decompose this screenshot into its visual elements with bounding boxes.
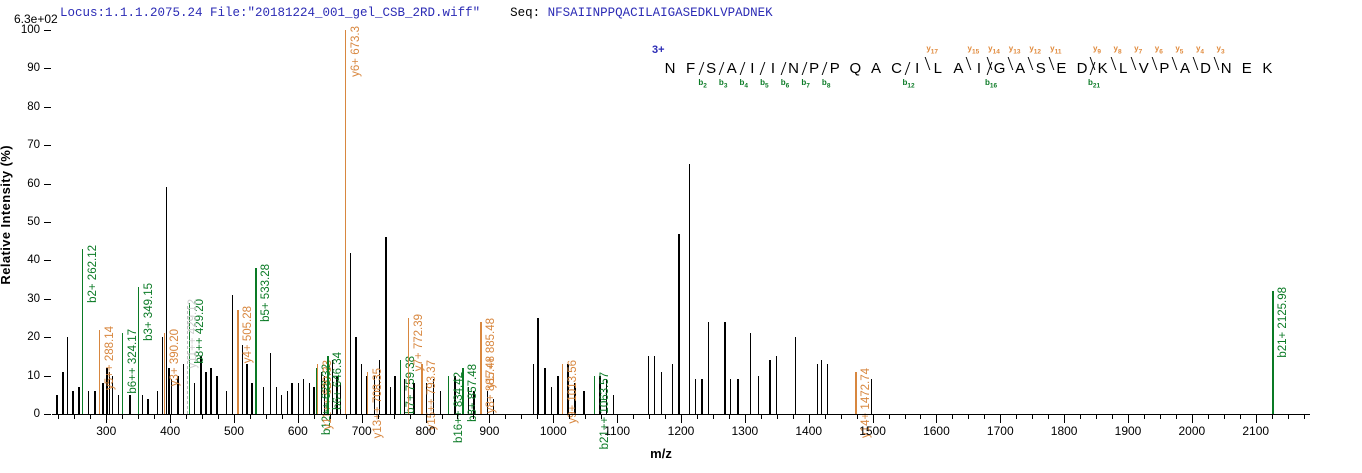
spectrum-peak bbox=[557, 376, 558, 414]
x-axis-minor-tick bbox=[410, 414, 411, 419]
spectrum-peak bbox=[390, 387, 391, 414]
peak-leader-line bbox=[187, 306, 188, 414]
spectrum-peak bbox=[88, 391, 89, 414]
spectrum-peak bbox=[440, 391, 441, 414]
x-axis-minor-tick bbox=[378, 414, 379, 419]
x-axis-major-tick bbox=[1000, 414, 1001, 423]
spectrum-peak bbox=[795, 337, 796, 414]
spectrum-peak bbox=[544, 368, 545, 414]
peak-label: b3+ 349.15 bbox=[143, 283, 155, 341]
x-axis-minor-tick bbox=[649, 414, 650, 419]
annotated-peak-y14p bbox=[855, 372, 856, 414]
spectrum-peak bbox=[281, 395, 282, 414]
annotated-peak-b21p bbox=[1272, 291, 1273, 414]
x-axis-title: m/z bbox=[0, 446, 1362, 461]
x-axis-minor-tick bbox=[218, 414, 219, 419]
x-axis-minor-tick bbox=[920, 414, 921, 419]
x-axis-major-tick bbox=[426, 414, 427, 423]
spectrum-peak bbox=[276, 387, 277, 414]
y-axis-tick-label: 90 bbox=[6, 62, 40, 74]
seq-keyword: Seq: bbox=[510, 6, 548, 20]
spectrum-peak bbox=[769, 360, 770, 414]
x-axis-tick-label: 700 bbox=[352, 424, 372, 438]
spectrum-peak bbox=[166, 187, 167, 414]
spectrum-peak bbox=[56, 395, 57, 414]
x-axis-minor-tick bbox=[1160, 414, 1161, 419]
peak-label: y3+ 390.20 bbox=[169, 329, 181, 386]
x-axis-minor-tick bbox=[314, 414, 315, 419]
x-axis-minor-tick bbox=[58, 414, 59, 419]
x-axis-major-tick bbox=[681, 414, 682, 423]
y-axis-tick bbox=[44, 260, 51, 261]
x-axis-tick-label: 600 bbox=[288, 424, 308, 438]
x-axis-tick-label: 2100 bbox=[1242, 424, 1269, 438]
y-axis-tick-label: 40 bbox=[6, 254, 40, 266]
spectrum-peak bbox=[194, 383, 195, 414]
spectrum-peak bbox=[251, 383, 252, 414]
x-axis-minor-tick bbox=[138, 414, 139, 419]
x-axis-major-tick bbox=[298, 414, 299, 423]
spectrum-peak bbox=[216, 376, 217, 414]
y-axis-tick-label: 30 bbox=[6, 293, 40, 305]
spectrum-peak bbox=[147, 399, 148, 414]
spectrum-peak bbox=[827, 364, 828, 414]
y-axis-tick bbox=[44, 30, 51, 31]
x-axis-minor-tick bbox=[857, 414, 858, 419]
x-axis-minor-tick bbox=[1048, 414, 1049, 419]
x-axis-major-tick bbox=[1064, 414, 1065, 423]
x-axis-minor-tick bbox=[841, 414, 842, 419]
x-axis-tick-label: 1400 bbox=[795, 424, 822, 438]
x-axis-minor-tick bbox=[537, 414, 538, 419]
peak-label: y5++ 288.14 bbox=[104, 326, 116, 390]
x-axis-minor-tick bbox=[952, 414, 953, 419]
x-axis-minor-tick bbox=[1272, 414, 1273, 419]
spectrum-peak bbox=[291, 383, 292, 414]
spectrum-peak bbox=[613, 395, 614, 414]
spectrum-peak bbox=[750, 333, 751, 414]
x-axis-minor-tick bbox=[825, 414, 826, 419]
annotated-peak-y13pp bbox=[367, 372, 368, 414]
y-axis-tick bbox=[44, 145, 51, 146]
x-axis-tick-label: 1700 bbox=[987, 424, 1014, 438]
peptide-sequence-text: NFSAIINPPQACILAIGASEDKLVPADNEK bbox=[548, 6, 773, 20]
spectrum-peak bbox=[62, 372, 63, 414]
spectrum-peak bbox=[94, 391, 95, 414]
spectrum-peak bbox=[533, 364, 534, 414]
peak-label: b6+ 646.34 bbox=[332, 352, 344, 410]
x-axis-minor-tick bbox=[697, 414, 698, 419]
x-axis-tick-label: 1000 bbox=[540, 424, 567, 438]
x-axis-minor-tick bbox=[394, 414, 395, 419]
annotated-peak-b8p bbox=[462, 368, 463, 414]
spectrum-peak bbox=[583, 391, 584, 414]
x-axis-minor-tick bbox=[1240, 414, 1241, 419]
x-axis-major-tick bbox=[809, 414, 810, 423]
spectrum-header: Locus:1.1.1.2075.24 File:"20181224_001_g… bbox=[60, 6, 773, 20]
spectrum-peak bbox=[350, 253, 351, 414]
x-axis-minor-tick bbox=[457, 414, 458, 419]
x-axis-minor-tick bbox=[1016, 414, 1017, 419]
x-axis-major-tick bbox=[489, 414, 490, 423]
x-axis-tick-label: 1200 bbox=[668, 424, 695, 438]
spectrum-peak bbox=[200, 356, 201, 414]
spectrum-peak bbox=[385, 237, 386, 414]
x-axis-major-tick bbox=[234, 414, 235, 423]
spectrum-peak bbox=[695, 379, 696, 414]
x-axis-minor-tick bbox=[1032, 414, 1033, 419]
spectrum-peak bbox=[157, 391, 158, 414]
y-axis-tick bbox=[44, 68, 51, 69]
spectrum-peak bbox=[661, 372, 662, 414]
x-axis-tick-label: 400 bbox=[160, 424, 180, 438]
spectrum-peak bbox=[394, 376, 395, 414]
annotated-peak-y3p bbox=[164, 333, 165, 414]
x-axis-major-tick bbox=[936, 414, 937, 423]
spectrum-peak bbox=[232, 295, 233, 414]
x-axis-minor-tick bbox=[905, 414, 906, 419]
spectrum-peak bbox=[730, 379, 731, 414]
x-axis-minor-tick bbox=[505, 414, 506, 419]
spectrum-peak bbox=[78, 387, 79, 414]
spectrum-peak bbox=[309, 383, 310, 414]
x-axis-minor-tick bbox=[984, 414, 985, 419]
x-axis-minor-tick bbox=[521, 414, 522, 419]
y-axis-tick-label: 20 bbox=[6, 331, 40, 343]
spectrum-peak bbox=[67, 337, 68, 414]
spectrum-peak bbox=[672, 364, 673, 414]
x-axis-minor-tick bbox=[713, 414, 714, 419]
y-axis-tick bbox=[44, 337, 51, 338]
y-axis-tick bbox=[44, 107, 51, 108]
y-axis-tick bbox=[44, 376, 51, 377]
annotated-peak-b7p bbox=[400, 360, 401, 414]
peak-label: y6+ 673.3 bbox=[350, 26, 362, 77]
peak-label-obscured: y11++ 429.12 bbox=[187, 299, 199, 369]
x-axis-minor-tick bbox=[665, 414, 666, 419]
spectrum-peak bbox=[298, 383, 299, 414]
x-axis-minor-tick bbox=[266, 414, 267, 419]
x-axis-tick-label: 1900 bbox=[1115, 424, 1142, 438]
x-axis-minor-tick bbox=[250, 414, 251, 419]
x-axis-tick-label: 900 bbox=[479, 424, 499, 438]
spectrum-peak bbox=[142, 395, 143, 414]
spectrum-peak bbox=[270, 353, 271, 414]
peak-label: y17++ 885.48 bbox=[485, 318, 497, 388]
x-axis-tick-label: 1600 bbox=[923, 424, 950, 438]
x-axis-minor-tick bbox=[585, 414, 586, 419]
y-axis-tick bbox=[44, 414, 51, 415]
spectrum-peak bbox=[817, 364, 818, 414]
spectrum-peak bbox=[551, 387, 552, 414]
spectrum-peak bbox=[821, 360, 822, 414]
spectrum-peak bbox=[263, 387, 264, 414]
x-axis-minor-tick bbox=[569, 414, 570, 419]
x-axis-minor-tick bbox=[346, 414, 347, 419]
annotated-peak-y9p bbox=[562, 364, 563, 414]
x-axis-tick-label: 800 bbox=[416, 424, 436, 438]
x-axis-minor-tick bbox=[1224, 414, 1225, 419]
spectrum-peak bbox=[689, 164, 690, 414]
x-axis-minor-tick bbox=[601, 414, 602, 419]
spectrum-peak bbox=[648, 356, 649, 414]
spectrum-peak bbox=[737, 379, 738, 414]
peak-label: y7+ 772.39 bbox=[413, 314, 425, 371]
x-axis-tick-label: 1300 bbox=[731, 424, 758, 438]
peak-label: y4+ 505.28 bbox=[242, 306, 254, 363]
x-axis-minor-tick bbox=[202, 414, 203, 419]
x-axis-minor-tick bbox=[473, 414, 474, 419]
x-axis-minor-tick bbox=[330, 414, 331, 419]
spectrum-plot-area: b2+ 262.12y5++ 288.14b6++ 324.17b3+ 349.… bbox=[52, 30, 1310, 414]
annotated-peak-b21pp bbox=[594, 376, 595, 414]
peak-label: y15++ 793.37 bbox=[426, 360, 438, 430]
spectrum-peak bbox=[678, 234, 679, 414]
x-axis-minor-tick bbox=[1096, 414, 1097, 419]
spectrum-peak bbox=[537, 318, 538, 414]
spectrum-peak bbox=[654, 356, 655, 414]
x-axis-tick-label: 1100 bbox=[604, 424, 630, 438]
y-axis-tick bbox=[44, 299, 51, 300]
x-axis-minor-tick bbox=[793, 414, 794, 419]
spectrum-peak bbox=[758, 376, 759, 414]
x-axis-major-tick bbox=[873, 414, 874, 423]
spectrum-peak bbox=[118, 395, 119, 414]
annotated-peak-b16pp bbox=[448, 376, 449, 414]
peak-label: b2+ 262.12 bbox=[87, 245, 99, 303]
y-axis-tick bbox=[44, 184, 51, 185]
x-axis-minor-tick bbox=[1144, 414, 1145, 419]
x-axis-minor-tick bbox=[968, 414, 969, 419]
x-axis-major-tick bbox=[617, 414, 618, 423]
x-axis-major-tick bbox=[1192, 414, 1193, 423]
peak-label: b21+ 2125.98 bbox=[1277, 287, 1289, 358]
spectrum-peak bbox=[708, 322, 709, 414]
annotated-peak-y6p bbox=[345, 30, 346, 414]
spectrum-peak bbox=[246, 364, 247, 414]
x-axis-minor-tick bbox=[1304, 414, 1305, 419]
spectrum-peak bbox=[724, 322, 725, 414]
x-axis-major-tick bbox=[1128, 414, 1129, 423]
annotated-peak-b5p bbox=[255, 268, 256, 414]
y-axis-tick-label: 60 bbox=[6, 178, 40, 190]
annotated-peak-b3p bbox=[138, 287, 139, 414]
x-axis-minor-tick bbox=[1288, 414, 1289, 419]
annotated-peak-y7p bbox=[408, 318, 409, 414]
x-axis-minor-tick bbox=[1208, 414, 1209, 419]
x-axis-major-tick bbox=[553, 414, 554, 423]
x-axis-minor-tick bbox=[122, 414, 123, 419]
x-axis-minor-tick bbox=[889, 414, 890, 419]
x-axis-tick-label: 1800 bbox=[1051, 424, 1078, 438]
y-axis-tick-label: 80 bbox=[6, 101, 40, 113]
x-axis-major-tick bbox=[745, 414, 746, 423]
x-axis-minor-tick bbox=[633, 414, 634, 419]
spectrum-peak bbox=[183, 364, 184, 414]
annotated-peak-y17pp bbox=[480, 322, 481, 414]
spectrum-peak bbox=[210, 368, 211, 414]
annotated-peak-y15pp bbox=[421, 364, 422, 414]
peak-label: b5+ 533.28 bbox=[260, 264, 272, 322]
spectrum-peak bbox=[776, 356, 777, 414]
x-axis-tick-label: 500 bbox=[224, 424, 244, 438]
y-axis-tick-label: 100 bbox=[6, 24, 40, 36]
x-axis-minor-tick bbox=[761, 414, 762, 419]
locus-file-text: Locus:1.1.1.2075.24 File:"20181224_001_g… bbox=[60, 6, 480, 20]
spectrum-peak bbox=[361, 364, 362, 414]
y-axis-tick-label: 70 bbox=[6, 139, 40, 151]
annotated-peak-y5pp bbox=[99, 330, 100, 414]
spectrum-peak bbox=[303, 379, 304, 414]
annotated-peak-b6p bbox=[327, 356, 328, 414]
x-axis-minor-tick bbox=[186, 414, 187, 419]
x-axis-minor-tick bbox=[282, 414, 283, 419]
x-axis-minor-tick bbox=[1080, 414, 1081, 419]
x-axis-tick-label: 1500 bbox=[859, 424, 886, 438]
spectrum-peak bbox=[701, 379, 702, 414]
x-axis-major-tick bbox=[362, 414, 363, 423]
x-axis-major-tick bbox=[1256, 414, 1257, 423]
seq-prefix-label bbox=[480, 6, 510, 20]
x-axis-minor-tick bbox=[90, 414, 91, 419]
x-axis-minor-tick bbox=[777, 414, 778, 419]
annotated-peak-y4p bbox=[237, 310, 238, 414]
spectrum-peak bbox=[226, 391, 227, 414]
spectrum-peak bbox=[72, 391, 73, 414]
y-axis-tick-label: 0 bbox=[6, 408, 40, 420]
x-axis-tick-label: 300 bbox=[96, 424, 116, 438]
spectrum-peak bbox=[129, 395, 130, 414]
x-axis-minor-tick bbox=[154, 414, 155, 419]
x-axis-minor-tick bbox=[1176, 414, 1177, 419]
y-axis-tick-label: 10 bbox=[6, 370, 40, 382]
spectrum-peak bbox=[355, 337, 356, 414]
spectrum-peak bbox=[287, 391, 288, 414]
x-axis-major-tick bbox=[106, 414, 107, 423]
x-axis-minor-tick bbox=[74, 414, 75, 419]
x-axis-minor-tick bbox=[442, 414, 443, 419]
peak-label: y13++ 708.35 bbox=[372, 368, 384, 438]
y-axis-tick bbox=[44, 222, 51, 223]
x-axis-minor-tick bbox=[729, 414, 730, 419]
annotated-peak-b2p bbox=[82, 249, 83, 414]
x-axis-minor-tick bbox=[1112, 414, 1113, 419]
x-axis-tick-label: 2000 bbox=[1179, 424, 1206, 438]
annotated-peak-y11pp bbox=[317, 364, 318, 414]
annotated-peak-b6pp bbox=[122, 333, 123, 414]
spectrum-peak bbox=[313, 387, 314, 414]
x-axis-major-tick bbox=[170, 414, 171, 423]
y-axis-tick-label: 50 bbox=[6, 216, 40, 228]
spectrum-peak bbox=[205, 372, 206, 414]
